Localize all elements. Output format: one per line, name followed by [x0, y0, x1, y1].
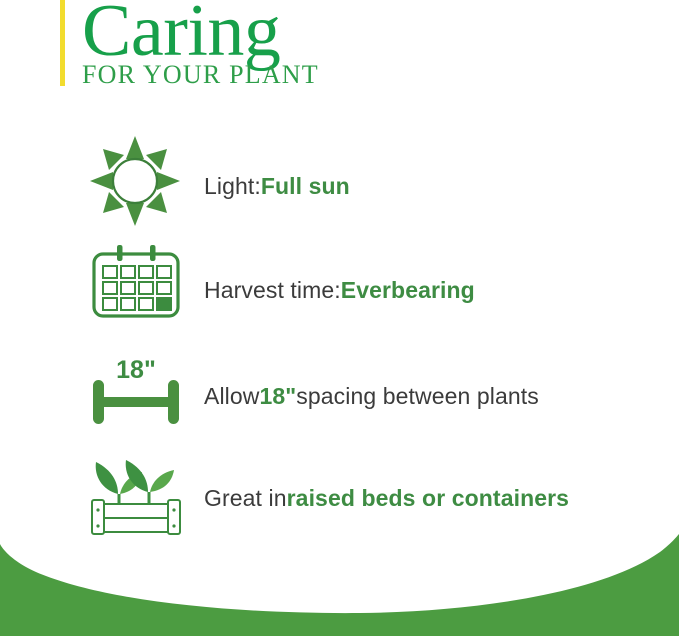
row-highlight-text: 18": [259, 382, 296, 410]
accent-bar: [60, 0, 65, 86]
row-highlight-text: Everbearing: [341, 276, 475, 304]
spacing-icon-label: 18": [116, 358, 156, 384]
page-subtitle: FOR YOUR PLANT: [82, 62, 412, 88]
row-lead-text: Light:: [204, 172, 261, 200]
spacing-measure-icon: 18": [88, 358, 184, 454]
row-lead-text: Harvest time:: [204, 276, 341, 304]
sun-icon: [88, 134, 184, 230]
header: Caring FOR YOUR PLANT: [0, 0, 679, 100]
row-lead-text: Allow: [204, 382, 259, 410]
calendar-icon: [88, 240, 184, 336]
title-block: Caring FOR YOUR PLANT: [82, 0, 412, 94]
row-highlight-text: raised beds or containers: [287, 484, 569, 512]
care-row: Harvest time: Everbearing: [0, 240, 679, 336]
care-row: 18" Allow 18" spacing between plants: [0, 352, 679, 448]
row-text: Harvest time: Everbearing: [204, 242, 475, 338]
row-tail-text: spacing between plants: [296, 382, 539, 410]
page-title: Caring: [82, 0, 412, 68]
row-highlight-text: Full sun: [261, 172, 350, 200]
row-text: Light: Full sun: [204, 138, 350, 234]
row-lead-text: Great in: [204, 484, 287, 512]
bottom-wave-decoration: [0, 518, 679, 636]
care-row: Light: Full sun: [0, 134, 679, 230]
row-text: Allow 18" spacing between plants: [204, 348, 539, 444]
